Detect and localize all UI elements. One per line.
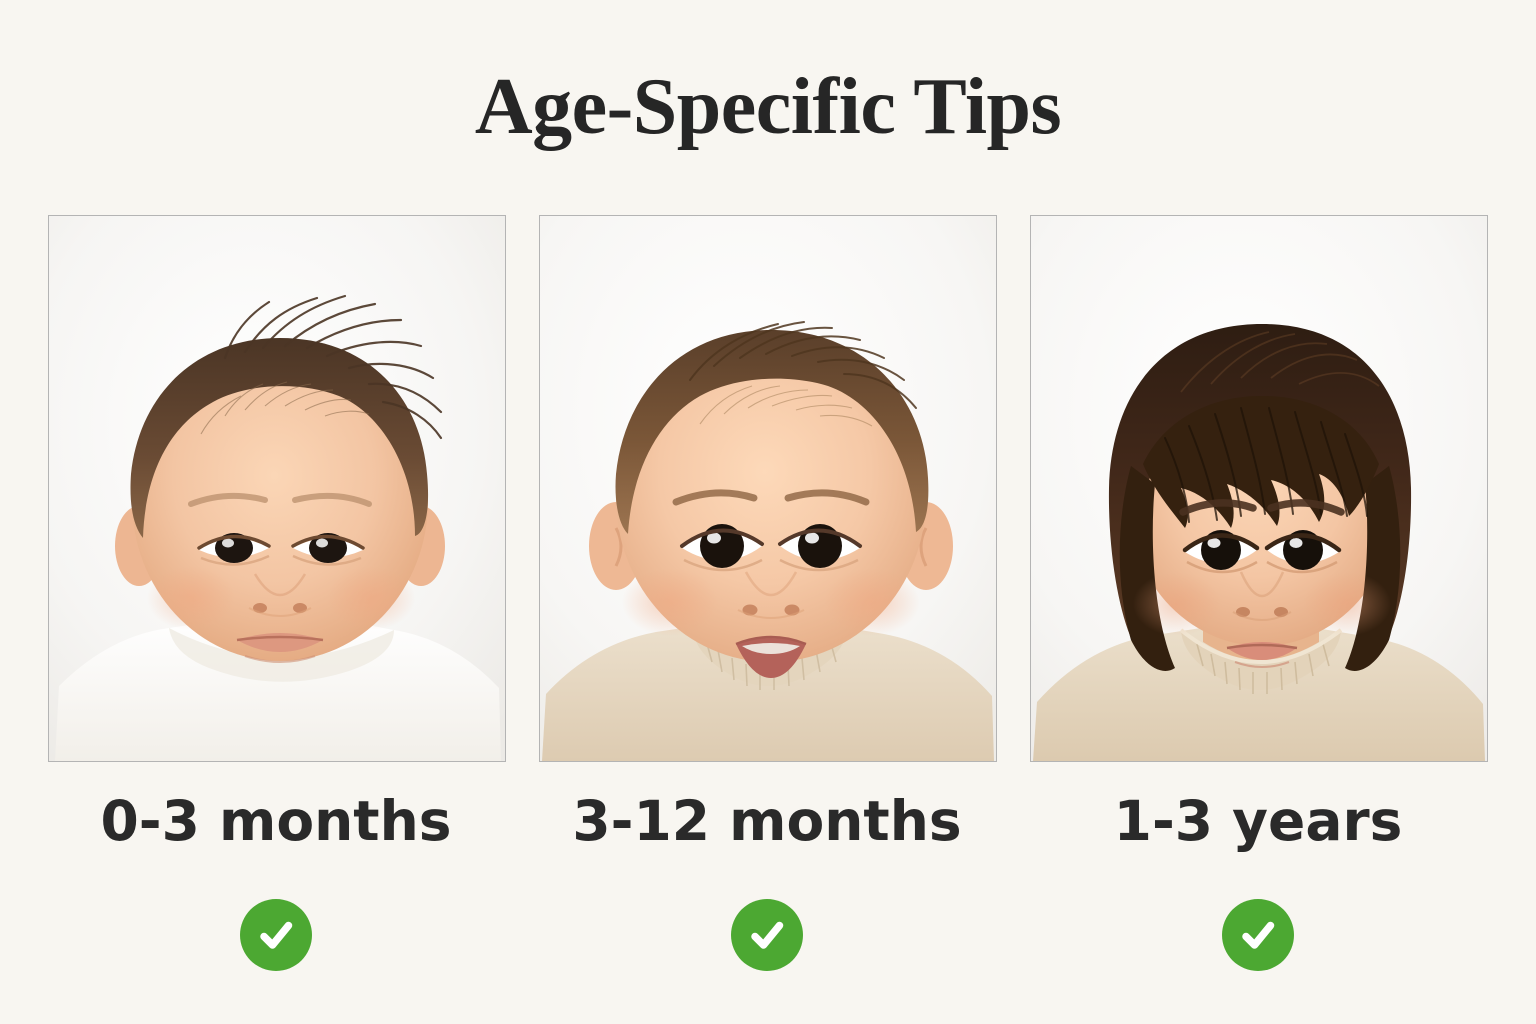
check-circle-icon[interactable] xyxy=(240,899,312,971)
status-row-1 xyxy=(539,899,995,971)
page-root: Age-Specific Tips xyxy=(0,0,1536,1024)
check-circle-icon[interactable] xyxy=(731,899,803,971)
page-title: Age-Specific Tips xyxy=(0,62,1536,152)
age-card-0-3-months[interactable]: 0-3 months xyxy=(48,215,506,762)
age-card-3-12-months[interactable]: 3-12 months xyxy=(539,215,997,762)
photo-frame-newborn[interactable] xyxy=(48,215,506,762)
photo-frame-infant[interactable] xyxy=(539,215,997,762)
age-label-1: 3-12 months xyxy=(539,788,995,854)
infant-portrait-image xyxy=(540,216,996,761)
toddler-portrait-image xyxy=(1031,216,1487,761)
age-card-1-3-years[interactable]: 1-3 years xyxy=(1030,215,1488,762)
age-card-row: 0-3 months xyxy=(48,215,1488,975)
check-circle-icon[interactable] xyxy=(1222,899,1294,971)
photo-frame-toddler[interactable] xyxy=(1030,215,1488,762)
age-label-0: 0-3 months xyxy=(48,788,504,854)
newborn-portrait-image xyxy=(49,216,505,761)
status-row-0 xyxy=(48,899,504,971)
age-label-2: 1-3 years xyxy=(1030,788,1486,854)
status-row-2 xyxy=(1030,899,1486,971)
